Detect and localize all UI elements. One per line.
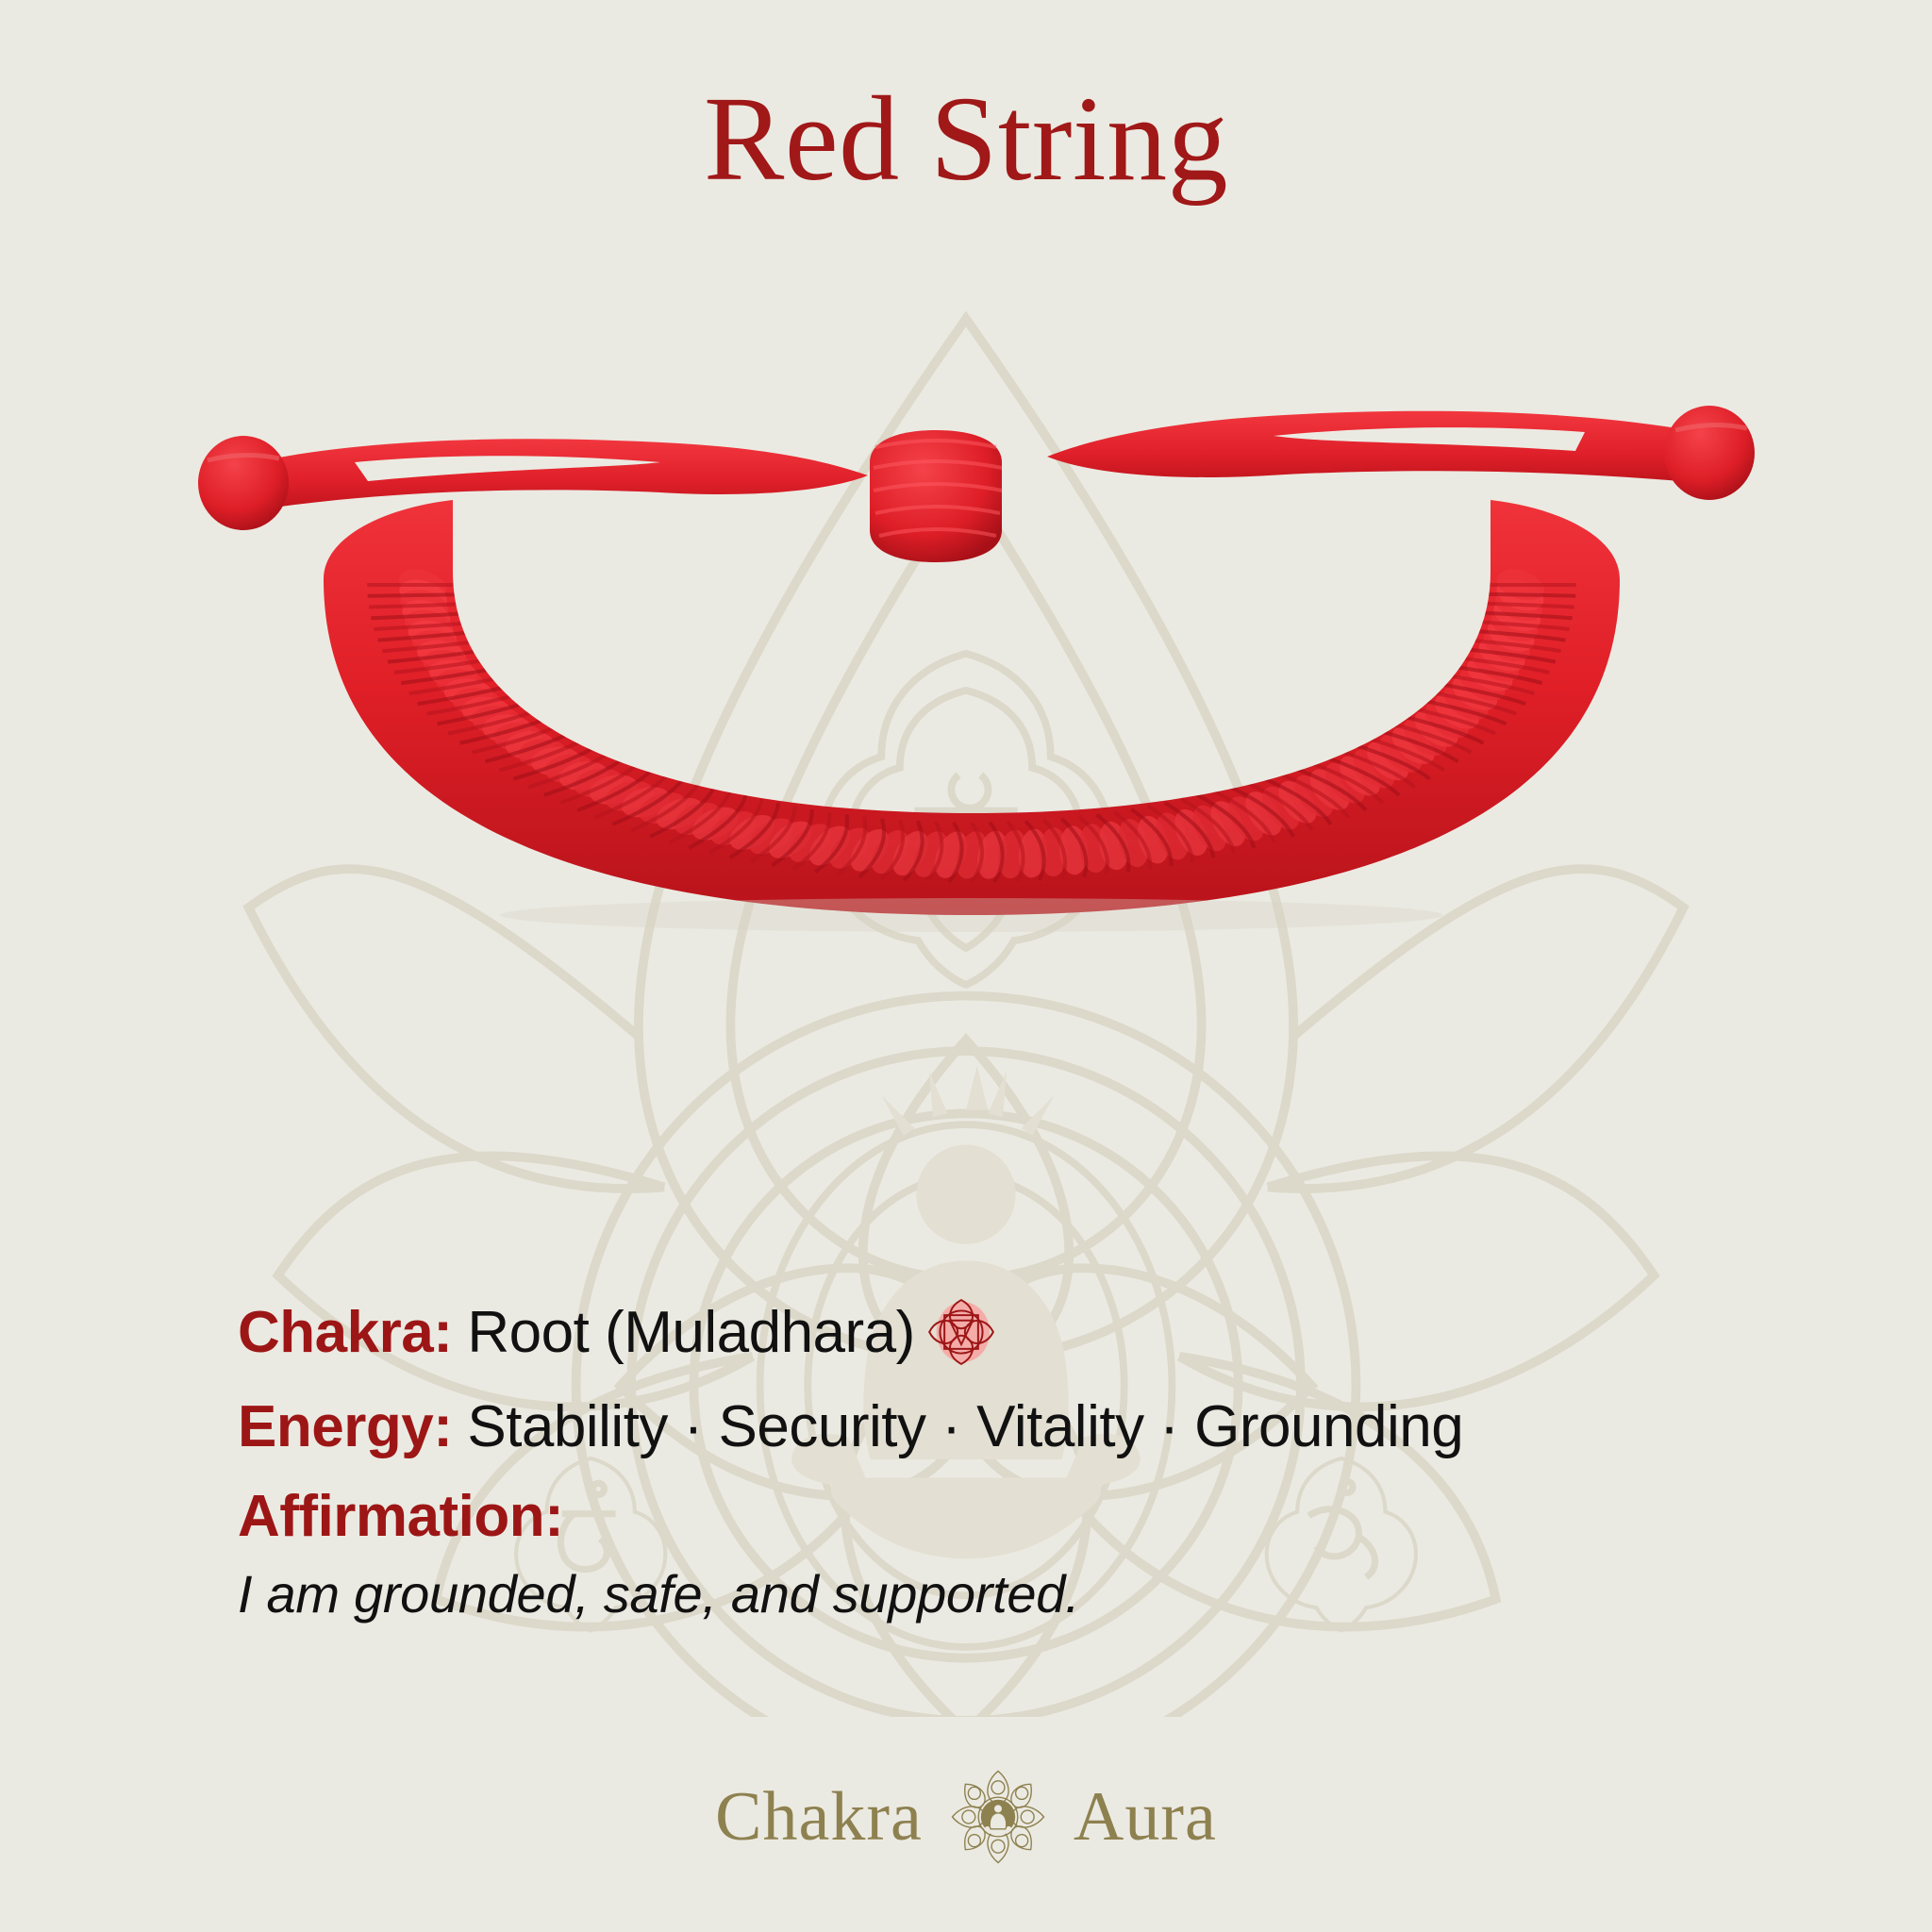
center-wrap-knot	[870, 430, 1002, 562]
energy-label: Energy:	[238, 1393, 452, 1460]
affirmation-label: Affirmation:	[238, 1483, 1728, 1550]
bracelet-band	[324, 500, 1620, 915]
affirmation-section: Affirmation: I am grounded, safe, and su…	[238, 1483, 1728, 1624]
chakra-label: Chakra:	[238, 1299, 452, 1366]
chakra-row: Chakra: Root (Muladhara)	[238, 1288, 1728, 1376]
brand-word-left: Chakra	[715, 1777, 923, 1857]
muladhara-chakra-icon	[917, 1288, 1006, 1376]
bracelet-product-image	[170, 349, 1774, 953]
right-end-knot	[1664, 406, 1755, 500]
affirmation-text: I am grounded, safe, and supported.	[238, 1563, 1728, 1624]
left-end-knot	[198, 436, 289, 530]
product-card: Red String	[0, 0, 1932, 1932]
chakra-value: Root (Muladhara)	[467, 1299, 914, 1366]
info-block: Chakra: Root (Muladhara) Energy: Stabili…	[238, 1288, 1728, 1624]
lotus-mandala-logo-icon	[949, 1768, 1047, 1866]
energy-row: Energy: Stability · Security · Vitality …	[238, 1393, 1728, 1460]
footer-brand: Chakra	[0, 1768, 1932, 1866]
braid-texture	[367, 564, 1575, 883]
left-cord-tail	[264, 439, 868, 508]
right-cord-loop-hole	[1274, 427, 1585, 451]
right-cord-tail	[1047, 411, 1689, 481]
page-title: Red String	[0, 74, 1932, 204]
brand-word-right: Aura	[1074, 1777, 1217, 1857]
energy-value: Stability · Security · Vitality · Ground…	[467, 1393, 1463, 1460]
left-cord-loop-hole	[355, 456, 660, 481]
